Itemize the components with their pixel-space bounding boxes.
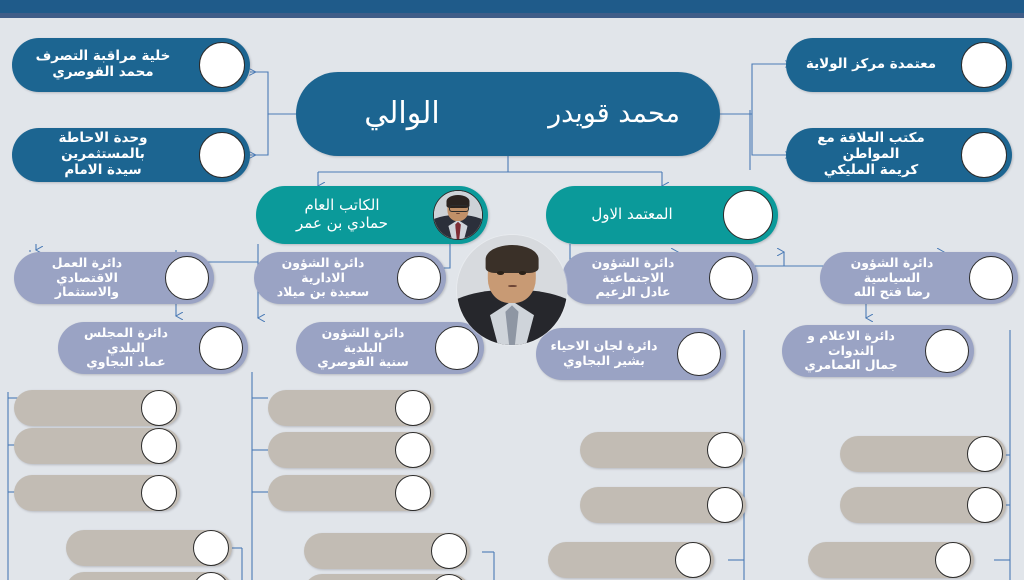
node-governorate-center-delegate[interactable]: معتمدة مركز الولاية (786, 38, 1012, 92)
avatar (967, 436, 1003, 472)
node-empty[interactable] (268, 390, 434, 426)
avatar (395, 390, 431, 426)
avatar (165, 256, 209, 300)
node-municipal-council[interactable]: دائرة المجلس البلديعماد البجاوي (58, 322, 248, 374)
avatar (961, 42, 1007, 88)
node-label: الكاتب العامحمادي بن عمر (256, 197, 428, 232)
avatar (707, 487, 743, 523)
top-banner (0, 0, 1024, 13)
node-administrative-affairs[interactable]: دائرة الشؤون الاداريةسعيدة بن ميلاد (254, 252, 446, 304)
node-governor[interactable]: محمد قويدر الوالي (296, 72, 720, 156)
node-label: دائرة الشؤون الاجتماعيةعادل الزعيم (562, 256, 704, 300)
avatar (141, 390, 177, 426)
node-label: دائرة العمل الاقتصاديوالاستثمار (14, 256, 160, 300)
node-label: مكتب العلاقة مع المواطنكريمة المليكي (786, 131, 956, 179)
node-citizen-relations-office[interactable]: مكتب العلاقة مع المواطنكريمة المليكي (786, 128, 1012, 182)
node-empty[interactable] (14, 475, 180, 511)
node-empty[interactable] (66, 530, 232, 566)
node-economic-affairs-investment[interactable]: دائرة العمل الاقتصاديوالاستثمار (14, 252, 214, 304)
node-empty[interactable] (840, 487, 1006, 523)
node-empty[interactable] (548, 542, 714, 578)
node-empty[interactable] (808, 542, 974, 578)
avatar (431, 533, 467, 569)
org-chart-canvas: محمد قويدر الوالي خلية مراقبة التصرفمحمد… (0, 0, 1024, 580)
node-empty[interactable] (14, 428, 180, 464)
avatar (199, 326, 243, 370)
avatar (961, 132, 1007, 178)
avatar (967, 487, 1003, 523)
node-label: خلية مراقبة التصرفمحمد القوصري (12, 49, 194, 81)
node-secretary-general[interactable]: الكاتب العامحمادي بن عمر (256, 186, 488, 244)
node-label: دائرة المجلس البلديعماد البجاوي (58, 326, 194, 370)
governor-avatar (457, 235, 567, 345)
node-empty[interactable] (304, 533, 470, 569)
avatar (141, 428, 177, 464)
avatar (431, 574, 467, 580)
avatar (199, 132, 245, 178)
avatar (395, 475, 431, 511)
node-label: دائرة الاعلام و الندواتجمال العمامري (782, 329, 920, 373)
node-investor-support-unit[interactable]: وحدة الاحاطة بالمستثمرينسيدة الامام (12, 128, 250, 182)
node-media-conferences[interactable]: دائرة الاعلام و الندواتجمال العمامري (782, 325, 974, 377)
node-label: دائرة الشؤون السياسيةرضا فتح الله (820, 256, 964, 300)
node-label: دائرة الشؤون البلديةسنية القوصري (296, 326, 430, 370)
avatar (193, 572, 229, 580)
avatar (675, 542, 711, 578)
node-empty[interactable] (14, 390, 180, 426)
node-empty[interactable] (580, 487, 746, 523)
avatar (709, 256, 753, 300)
node-first-delegate[interactable]: المعتمد الاول (546, 186, 778, 244)
avatar (199, 42, 245, 88)
avatar (925, 329, 969, 373)
node-empty[interactable] (304, 574, 470, 580)
avatar (395, 432, 431, 468)
node-empty[interactable] (66, 572, 232, 580)
node-political-affairs[interactable]: دائرة الشؤون السياسيةرضا فتح الله (820, 252, 1018, 304)
secretary-general-avatar (433, 190, 483, 240)
avatar (141, 475, 177, 511)
node-empty[interactable] (840, 436, 1006, 472)
node-label: المعتمد الاول (546, 206, 718, 224)
avatar (397, 256, 441, 300)
top-banner-strip (0, 13, 1024, 18)
node-empty[interactable] (580, 432, 746, 468)
avatar (935, 542, 971, 578)
avatar (969, 256, 1013, 300)
avatar (193, 530, 229, 566)
avatar (723, 190, 773, 240)
node-municipal-affairs[interactable]: دائرة الشؤون البلديةسنية القوصري (296, 322, 484, 374)
node-label: وحدة الاحاطة بالمستثمرينسيدة الامام (12, 131, 194, 179)
governor-name: محمد قويدر (508, 98, 720, 130)
node-label: معتمدة مركز الولاية (786, 57, 956, 73)
node-management-control-cell[interactable]: خلية مراقبة التصرفمحمد القوصري (12, 38, 250, 92)
node-empty[interactable] (268, 475, 434, 511)
governor-title: الوالي (296, 96, 508, 131)
avatar (677, 332, 721, 376)
avatar (707, 432, 743, 468)
node-label: دائرة الشؤون الاداريةسعيدة بن ميلاد (254, 256, 392, 300)
node-empty[interactable] (268, 432, 434, 468)
node-social-affairs[interactable]: دائرة الشؤون الاجتماعيةعادل الزعيم (562, 252, 758, 304)
